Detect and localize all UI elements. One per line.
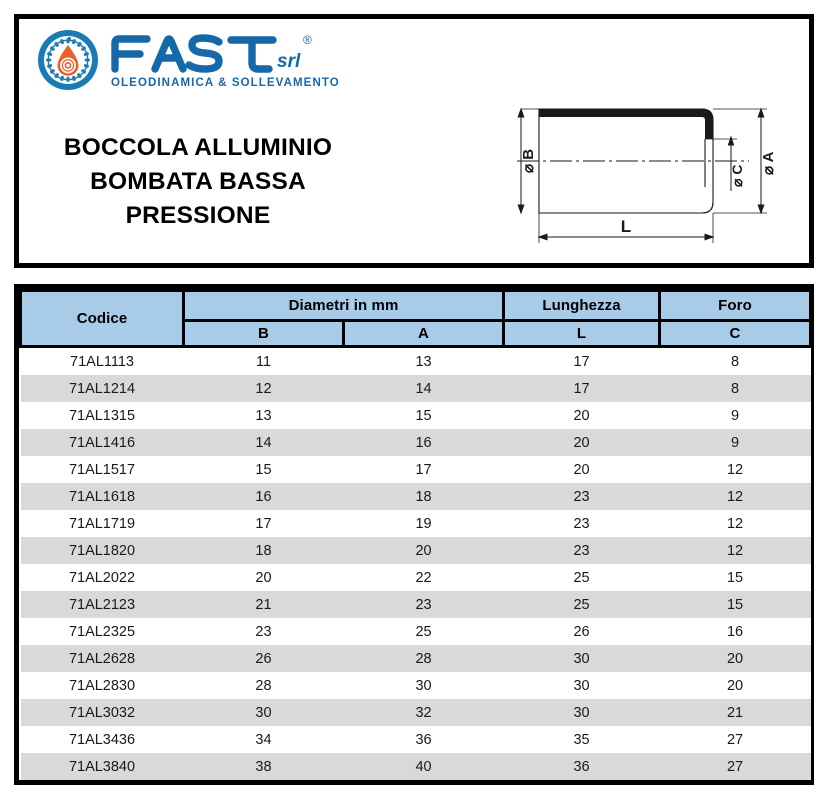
cell-c: 15: [660, 564, 811, 591]
col-header-lunghezza: Lunghezza: [504, 291, 660, 321]
col-subheader-a: A: [344, 321, 504, 347]
table-row: 71AL13151315209: [21, 402, 811, 429]
cell-b: 34: [184, 726, 344, 753]
cell-a: 32: [344, 699, 504, 726]
table-row: 71AL303230323021: [21, 699, 811, 726]
cell-b: 12: [184, 375, 344, 402]
cell-l: 20: [504, 456, 660, 483]
cell-l: 17: [504, 347, 660, 376]
dim-label-c: ⌀ C: [729, 165, 745, 187]
cell-c: 21: [660, 699, 811, 726]
cell-l: 20: [504, 429, 660, 456]
table-row: 71AL232523252616: [21, 618, 811, 645]
cell-a: 25: [344, 618, 504, 645]
svg-text:®: ®: [303, 33, 312, 47]
cell-c: 12: [660, 483, 811, 510]
cell-a: 20: [344, 537, 504, 564]
cell-a: 22: [344, 564, 504, 591]
table-header-row-1: Codice Diametri in mm Lunghezza Foro: [21, 291, 811, 321]
table-row: 71AL161816182312: [21, 483, 811, 510]
cell-b: 16: [184, 483, 344, 510]
header-panel: srl ® OLEODINAMICA & SOLLEVAMENTO BOCCOL…: [14, 14, 814, 268]
cell-codice: 71AL3436: [21, 726, 184, 753]
cell-b: 21: [184, 591, 344, 618]
table-row: 71AL151715172012: [21, 456, 811, 483]
cell-c: 12: [660, 456, 811, 483]
cell-codice: 71AL2325: [21, 618, 184, 645]
table-row: 71AL262826283020: [21, 645, 811, 672]
cell-a: 36: [344, 726, 504, 753]
cell-codice: 71AL2628: [21, 645, 184, 672]
cell-b: 23: [184, 618, 344, 645]
dim-label-l: L: [621, 217, 631, 236]
cell-a: 14: [344, 375, 504, 402]
cell-c: 16: [660, 618, 811, 645]
title-line-1: BOCCOLA ALLUMINIO: [33, 131, 363, 165]
cell-codice: 71AL1113: [21, 347, 184, 376]
cell-l: 17: [504, 375, 660, 402]
table-row: 71AL12141214178: [21, 375, 811, 402]
brand-tagline: OLEODINAMICA & SOLLEVAMENTO: [111, 77, 340, 89]
specification-table: Codice Diametri in mm Lunghezza Foro B A…: [14, 284, 814, 785]
cell-codice: 71AL1618: [21, 483, 184, 510]
cell-c: 27: [660, 753, 811, 780]
cell-b: 11: [184, 347, 344, 376]
cell-codice: 71AL1214: [21, 375, 184, 402]
fast-wordmark-icon: srl ®: [107, 31, 325, 75]
table-body: 71AL1113111317871AL1214121417871AL131513…: [21, 347, 811, 781]
svg-text:srl: srl: [277, 51, 301, 72]
cell-c: 12: [660, 537, 811, 564]
page-title: BOCCOLA ALLUMINIO BOMBATA BASSA PRESSION…: [33, 131, 363, 232]
cell-codice: 71AL3840: [21, 753, 184, 780]
table-row: 71AL182018202312: [21, 537, 811, 564]
cell-l: 36: [504, 753, 660, 780]
col-header-foro: Foro: [660, 291, 811, 321]
table-row: 71AL11131113178: [21, 347, 811, 376]
cell-b: 18: [184, 537, 344, 564]
table-row: 71AL384038403627: [21, 753, 811, 780]
cell-l: 30: [504, 672, 660, 699]
cell-codice: 71AL1315: [21, 402, 184, 429]
company-logo: srl ® OLEODINAMICA & SOLLEVAMENTO: [37, 29, 340, 91]
cell-b: 38: [184, 753, 344, 780]
cell-codice: 71AL1719: [21, 510, 184, 537]
table-row: 71AL171917192312: [21, 510, 811, 537]
cell-c: 12: [660, 510, 811, 537]
cell-a: 16: [344, 429, 504, 456]
cell-l: 26: [504, 618, 660, 645]
cell-l: 30: [504, 645, 660, 672]
cell-a: 19: [344, 510, 504, 537]
cell-c: 27: [660, 726, 811, 753]
cell-b: 15: [184, 456, 344, 483]
cell-b: 14: [184, 429, 344, 456]
cell-c: 9: [660, 402, 811, 429]
bushing-cross-section-drawing: ⌀ B ⌀ A: [499, 87, 809, 252]
cell-a: 18: [344, 483, 504, 510]
table-row: 71AL212321232515: [21, 591, 811, 618]
col-subheader-b: B: [184, 321, 344, 347]
datasheet-page: srl ® OLEODINAMICA & SOLLEVAMENTO BOCCOL…: [0, 0, 832, 798]
cell-c: 9: [660, 429, 811, 456]
cell-a: 15: [344, 402, 504, 429]
dim-label-a: ⌀ A: [760, 151, 777, 175]
cell-codice: 71AL1820: [21, 537, 184, 564]
cell-a: 28: [344, 645, 504, 672]
cell-a: 40: [344, 753, 504, 780]
cell-a: 30: [344, 672, 504, 699]
table-row: 71AL14161416209: [21, 429, 811, 456]
cell-b: 20: [184, 564, 344, 591]
cell-l: 20: [504, 402, 660, 429]
cell-codice: 71AL2022: [21, 564, 184, 591]
cell-b: 13: [184, 402, 344, 429]
cell-l: 25: [504, 591, 660, 618]
cell-codice: 71AL1416: [21, 429, 184, 456]
cell-b: 28: [184, 672, 344, 699]
cell-codice: 71AL1517: [21, 456, 184, 483]
cell-c: 20: [660, 645, 811, 672]
brand-wordmark: srl ®: [107, 31, 340, 80]
cell-a: 23: [344, 591, 504, 618]
cell-l: 30: [504, 699, 660, 726]
cell-a: 17: [344, 456, 504, 483]
table-row: 71AL283028303020: [21, 672, 811, 699]
dim-label-b: ⌀ B: [520, 149, 537, 173]
cell-codice: 71AL3032: [21, 699, 184, 726]
cell-c: 8: [660, 347, 811, 376]
cell-a: 13: [344, 347, 504, 376]
cell-l: 25: [504, 564, 660, 591]
cell-l: 23: [504, 510, 660, 537]
cell-c: 15: [660, 591, 811, 618]
title-line-2: BOMBATA BASSA: [33, 165, 363, 199]
cell-c: 20: [660, 672, 811, 699]
cell-b: 26: [184, 645, 344, 672]
table-row: 71AL343634363527: [21, 726, 811, 753]
cell-l: 23: [504, 483, 660, 510]
table-header: Codice Diametri in mm Lunghezza Foro B A…: [21, 291, 811, 347]
col-header-diametri: Diametri in mm: [184, 291, 504, 321]
title-line-3: PRESSIONE: [33, 199, 363, 233]
cell-codice: 71AL2830: [21, 672, 184, 699]
cell-b: 30: [184, 699, 344, 726]
gear-oil-drop-logo-icon: [37, 29, 99, 91]
col-header-codice: Codice: [21, 291, 184, 347]
col-subheader-l: L: [504, 321, 660, 347]
col-subheader-c: C: [660, 321, 811, 347]
cell-b: 17: [184, 510, 344, 537]
table-row: 71AL202220222515: [21, 564, 811, 591]
cell-c: 8: [660, 375, 811, 402]
cell-l: 35: [504, 726, 660, 753]
cell-l: 23: [504, 537, 660, 564]
cell-codice: 71AL2123: [21, 591, 184, 618]
bushing-spec-table: Codice Diametri in mm Lunghezza Foro B A…: [19, 289, 812, 780]
